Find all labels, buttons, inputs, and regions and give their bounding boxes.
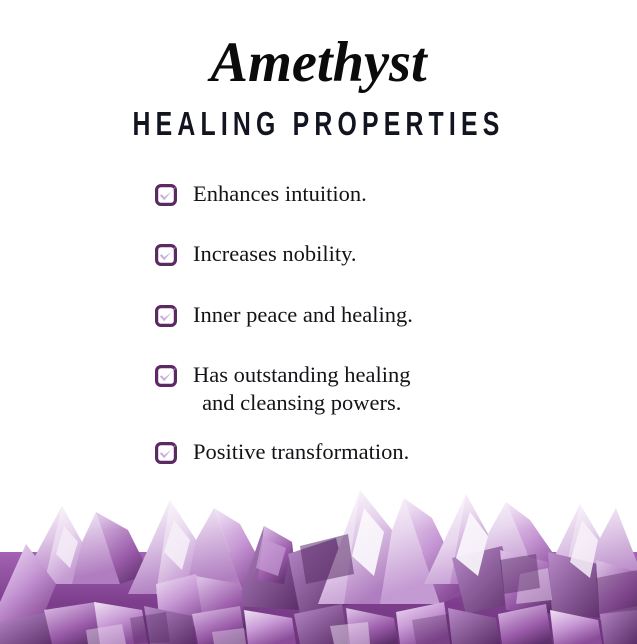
- checked-checkbox-icon[interactable]: [155, 365, 177, 387]
- list-item-label: Enhances intuition.: [193, 180, 367, 207]
- checked-checkbox-icon[interactable]: [155, 184, 177, 206]
- healing-properties-list: Enhances intuition. Increases nobility. …: [155, 180, 575, 466]
- amethyst-healing-properties-poster: Amethyst HEALING PROPERTIES Enhances int…: [0, 0, 637, 644]
- list-item: Increases nobility.: [155, 240, 575, 267]
- list-item-label: Inner peace and healing.: [193, 301, 413, 328]
- heading-block: Amethyst HEALING PROPERTIES: [0, 34, 637, 138]
- list-item: Enhances intuition.: [155, 180, 575, 207]
- checked-checkbox-icon[interactable]: [155, 244, 177, 266]
- checked-checkbox-icon[interactable]: [155, 442, 177, 464]
- page-title: Amethyst: [3, 34, 634, 91]
- page-subtitle: HEALING PROPERTIES: [64, 107, 574, 140]
- list-item-label: Positive transformation.: [193, 438, 409, 465]
- list-item: Positive transformation.: [155, 438, 575, 465]
- list-item: Has outstanding healing and cleansing po…: [155, 361, 575, 416]
- checked-checkbox-icon[interactable]: [155, 305, 177, 327]
- list-item-label: Increases nobility.: [193, 240, 357, 267]
- list-item-label: Has outstanding healing and cleansing po…: [193, 361, 410, 416]
- list-item: Inner peace and healing.: [155, 301, 575, 328]
